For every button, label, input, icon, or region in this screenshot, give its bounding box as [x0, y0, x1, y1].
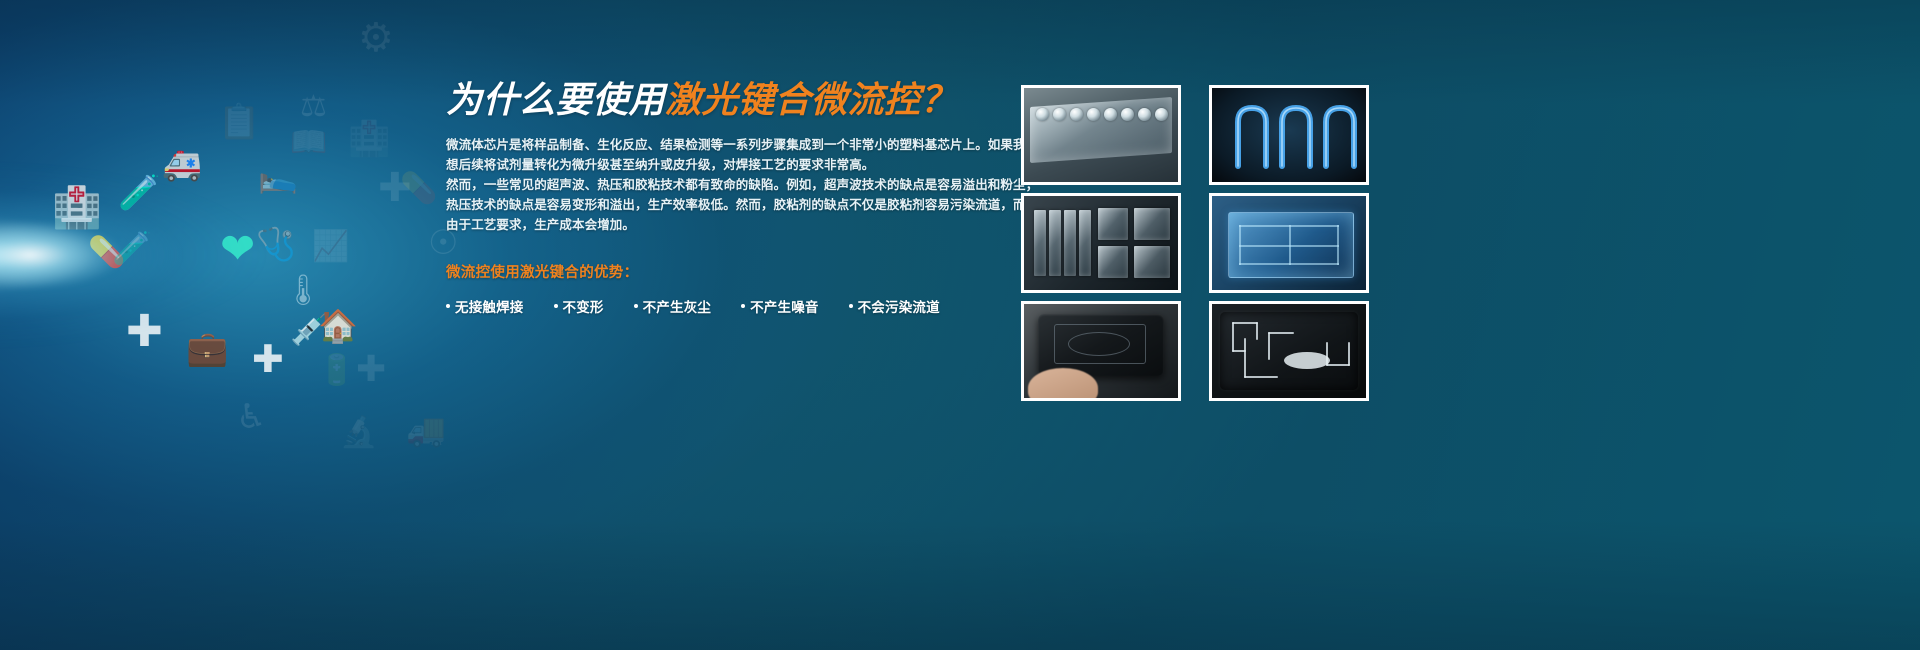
gallery-image-transparent-blue-manifold-block[interactable] — [1209, 193, 1369, 293]
text-content: 为什么要使用激光键合微流控？ 微流体芯片是将样品制备、生化反应、结果检测等一系列… — [446, 80, 966, 316]
paragraph-line: 然而，一些常见的超声波、热压和胶粘技术都有致命的缺陷。例如，超声波技术的缺点是容… — [446, 175, 966, 195]
list-item: 无接触焊接 — [446, 296, 524, 316]
list-item: 不变形 — [554, 296, 604, 316]
page-title: 为什么要使用激光键合微流控？ — [446, 80, 966, 120]
gallery-image-chip-array-on-dark-tray[interactable] — [1021, 193, 1181, 293]
paragraph-line: 由于工艺要求，生产成本会增加。 — [446, 215, 966, 235]
gallery-image-black-plate-channel-network[interactable] — [1209, 301, 1369, 401]
advantages-list: 无接触焊接 不变形 不产生灰尘 不产生噪音 不会污染流道 — [446, 296, 966, 316]
gallery-image-serpentine-channel-blue-chip[interactable] — [1209, 85, 1369, 185]
description-paragraph: 微流体芯片是将样品制备、生化反应、结果检测等一系列步骤集成到一个非常小的塑料基芯… — [446, 135, 966, 235]
wheelchair-icon: ♿ — [236, 400, 266, 434]
advantages-title: 微流控使用激光键合的优势： — [446, 261, 966, 282]
bullet-dot-icon — [634, 304, 638, 308]
flask-icon: ⚙ — [358, 18, 394, 58]
gallery-image-microfluidic-chip-round-wells[interactable] — [1021, 85, 1181, 185]
paragraph-line: 热压技术的缺点是容易变形和溢出，生产效率极低。然而，胶粘剂的缺点不仅是胶粘剂容易… — [446, 195, 966, 215]
microscope-icon: 🔬 — [340, 418, 377, 448]
list-item-label: 不变形 — [563, 296, 604, 316]
clipboard-icon: 📋 — [218, 105, 260, 139]
list-item-label: 不产生灰尘 — [643, 296, 712, 316]
battery-icon: 🔋 — [318, 356, 355, 386]
product-image-gallery — [1021, 85, 1369, 401]
list-item: 不产生噪音 — [741, 296, 819, 316]
headline-orange: 激光键合微流控？ — [665, 79, 957, 120]
paragraph-line: 想后续将试剂量转化为微升级甚至纳升或皮升级，对焊接工艺的要求非常高。 — [446, 155, 966, 175]
bullet-dot-icon — [741, 304, 745, 308]
list-item-label: 不产生噪音 — [750, 296, 819, 316]
truck-icon: 🚚 — [406, 414, 446, 446]
headline-white: 为什么要使用 — [446, 79, 665, 120]
gallery-image-black-flexible-chip-in-hand[interactable] — [1021, 301, 1181, 401]
bullet-dot-icon — [849, 304, 853, 308]
banner-root: ⚙ ⚖ 📋 🏥 📖 🚑 🧪 🏥 🛌 ✚ 💊 🧪 ❤ 🩺 📈 ☉ ✚ 🌡 🏠 💉 … — [0, 0, 1920, 650]
paragraph-line: 微流体芯片是将样品制备、生化反应、结果检测等一系列步骤集成到一个非常小的塑料基芯… — [446, 135, 966, 155]
list-item-label: 不会污染流道 — [858, 296, 940, 316]
list-item: 不会污染流道 — [849, 296, 940, 316]
test-tube-icon: ⚖ — [300, 92, 327, 122]
bullet-dot-icon — [446, 304, 450, 308]
light-beam-core — [0, 200, 240, 310]
serpentine-channel-graphic — [1212, 88, 1366, 182]
bullet-dot-icon — [554, 304, 558, 308]
list-item-label: 无接触焊接 — [455, 296, 524, 316]
list-item: 不产生灰尘 — [634, 296, 712, 316]
